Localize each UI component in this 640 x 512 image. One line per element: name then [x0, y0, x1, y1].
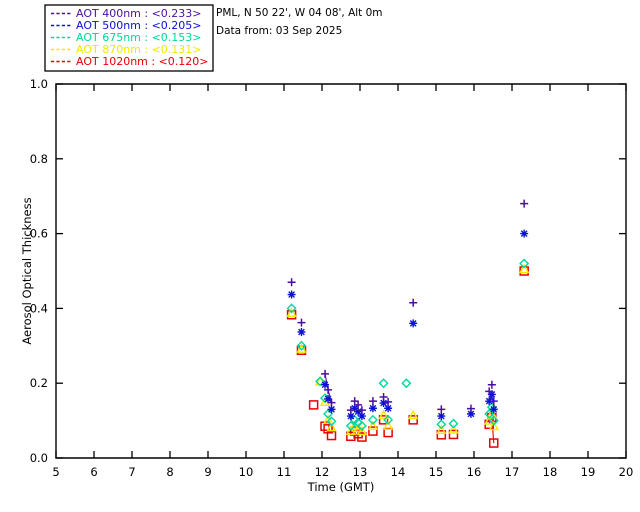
- data-point-asterisk: [409, 319, 417, 327]
- data-point-asterisk: [520, 230, 528, 238]
- y-tick-label: 0.8: [30, 152, 48, 166]
- x-tick-label: 17: [505, 465, 520, 479]
- data-point-square: [310, 401, 318, 409]
- aot-plot-figure: AOT 400nm : <0.233>AOT 500nm : <0.205>AO…: [0, 0, 640, 512]
- data-point-asterisk: [288, 291, 296, 299]
- x-tick-label: 20: [619, 465, 634, 479]
- data-point-plus: [380, 393, 388, 401]
- data-point-asterisk: [490, 405, 498, 413]
- plot-frame: [56, 84, 626, 458]
- x-tick-label: 12: [315, 465, 330, 479]
- x-tick-label: 8: [166, 465, 173, 479]
- y-tick-label: 1.0: [30, 77, 48, 91]
- y-axis-label: Aerosol Optical Thickness: [20, 197, 34, 344]
- x-axis-label: Time (GMT): [307, 480, 375, 494]
- y-tick-label: 0.0: [30, 451, 48, 465]
- x-tick-label: 15: [429, 465, 444, 479]
- data-point-plus: [297, 319, 305, 327]
- x-tick-label: 5: [52, 465, 59, 479]
- legend: AOT 400nm : <0.233>AOT 500nm : <0.205>AO…: [45, 5, 213, 71]
- data-point-diamond: [380, 379, 388, 387]
- data-point-triangle: [437, 426, 445, 433]
- data-point-triangle: [409, 411, 417, 418]
- x-tick-label: 11: [277, 465, 292, 479]
- x-tick-label: 13: [353, 465, 368, 479]
- x-tick-label: 18: [543, 465, 558, 479]
- x-tick-label: 10: [239, 465, 254, 479]
- series-aot-675nm: [288, 260, 529, 430]
- y-tick-label: 0.2: [30, 376, 48, 390]
- data-point-plus: [321, 370, 329, 378]
- station-info-text: PML, N 50 22', W 04 08', Alt 0m: [216, 7, 383, 19]
- data-point-triangle: [520, 265, 528, 272]
- data-date-text: Data from: 03 Sep 2025: [216, 25, 342, 37]
- legend-label-1020nm: AOT 1020nm : <0.120>: [76, 55, 209, 68]
- data-point-asterisk: [369, 404, 377, 412]
- x-tick-label: 16: [467, 465, 482, 479]
- data-series-layer: [288, 200, 529, 447]
- x-tick-label: 19: [581, 465, 596, 479]
- x-tick-label: 9: [204, 465, 211, 479]
- axis-titles: Time (GMT) Aerosol Optical Thickness: [20, 197, 374, 494]
- data-point-plus: [369, 397, 377, 405]
- plot-canvas: AOT 400nm : <0.233>AOT 500nm : <0.205>AO…: [0, 0, 640, 512]
- data-point-plus: [520, 200, 528, 208]
- series-aot-1020nm: [288, 267, 529, 447]
- data-point-asterisk: [297, 328, 305, 336]
- x-tick-label: 6: [90, 465, 97, 479]
- data-point-diamond: [402, 379, 410, 387]
- x-tick-label: 14: [391, 465, 406, 479]
- data-point-plus: [437, 405, 445, 413]
- plot-axes: 5678910111213141516171819200.00.20.40.60…: [30, 77, 634, 479]
- x-tick-label: 7: [128, 465, 135, 479]
- data-point-plus: [409, 299, 417, 307]
- figure-header: PML, N 50 22', W 04 08', Alt 0m Data fro…: [216, 7, 383, 37]
- data-point-plus: [288, 278, 296, 286]
